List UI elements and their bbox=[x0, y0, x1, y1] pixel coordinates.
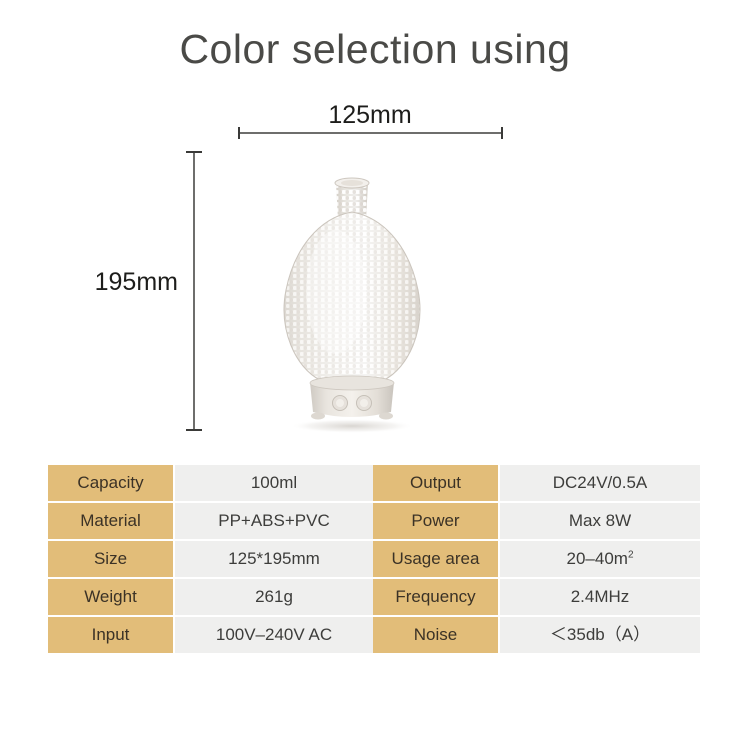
spec-value: 261g bbox=[173, 579, 373, 615]
spec-label: Size bbox=[48, 541, 173, 577]
spec-value: PP+ABS+PVC bbox=[173, 503, 373, 539]
spec-label: Noise bbox=[373, 617, 498, 653]
spec-value: Max 8W bbox=[498, 503, 700, 539]
spec-value-superscript: 2 bbox=[628, 549, 634, 560]
spec-value: ＜35db（A） bbox=[498, 617, 700, 653]
spec-value: 100V–240V AC bbox=[173, 617, 373, 653]
spec-label: Output bbox=[373, 465, 498, 501]
product-photo-aroma-diffuser bbox=[258, 172, 446, 434]
height-dimension-label: 195mm bbox=[74, 268, 178, 297]
spec-value: 2.4MHz bbox=[498, 579, 700, 615]
product-dimension-diagram: 125mm 195mm bbox=[0, 0, 750, 460]
spec-value-usage-area: 20–40m2 bbox=[498, 541, 700, 577]
spec-value-text: 20–40m bbox=[567, 549, 628, 568]
spec-value: DC24V/0.5A bbox=[498, 465, 700, 501]
spec-label: Frequency bbox=[373, 579, 498, 615]
spec-label: Weight bbox=[48, 579, 173, 615]
width-dimension-label: 125mm bbox=[237, 101, 503, 130]
spec-value: 100ml bbox=[173, 465, 373, 501]
spec-label: Capacity bbox=[48, 465, 173, 501]
spec-value: 125*195mm bbox=[173, 541, 373, 577]
spec-label: Input bbox=[48, 617, 173, 653]
spec-label: Power bbox=[373, 503, 498, 539]
height-dimension-line bbox=[193, 151, 195, 431]
specification-table: Capacity 100ml Output DC24V/0.5A Materia… bbox=[48, 465, 700, 653]
width-dimension-line bbox=[238, 132, 503, 134]
spec-label: Usage area bbox=[373, 541, 498, 577]
spec-label: Material bbox=[48, 503, 173, 539]
